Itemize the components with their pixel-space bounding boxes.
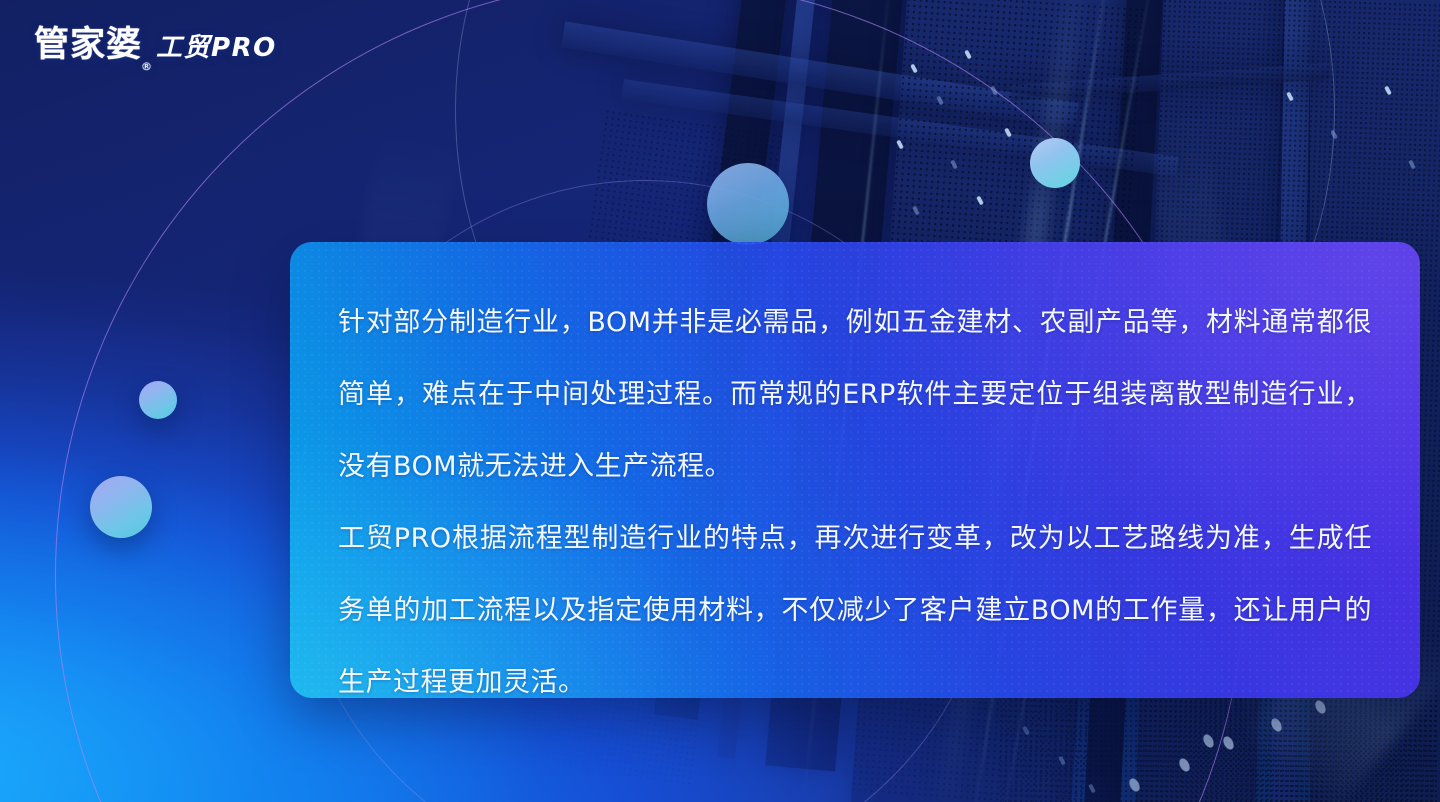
paragraph-1: 针对部分制造行业，BOM并非是必需品，例如五金建材、农副产品等，材料通常都很简单… [338, 287, 1372, 503]
sphere-left-lower [90, 476, 152, 538]
paragraph-2: 工贸PRO根据流程型制造行业的特点，再次进行变革，改为以工艺路线为准，生成任务单… [338, 503, 1372, 698]
sphere-left-upper [139, 381, 177, 419]
slide-canvas: 管家婆 ® 工贸PRO 针对部分制造行业，BOM并非是必需品，例如五金建材、农副… [0, 0, 1440, 802]
registered-trademark-icon: ® [141, 61, 153, 72]
card-body: 针对部分制造行业，BOM并非是必需品，例如五金建材、农副产品等，材料通常都很简单… [290, 242, 1420, 698]
brand-logo-chinese: 管家婆 [34, 28, 142, 63]
brand-logo-product: 工贸PRO [156, 35, 277, 61]
content-card: 针对部分制造行业，BOM并非是必需品，例如五金建材、农副产品等，材料通常都很简单… [290, 242, 1420, 698]
sphere-top [707, 163, 789, 245]
brand-logo: 管家婆 ® 工贸PRO [34, 28, 277, 63]
sphere-mid [1030, 138, 1080, 188]
